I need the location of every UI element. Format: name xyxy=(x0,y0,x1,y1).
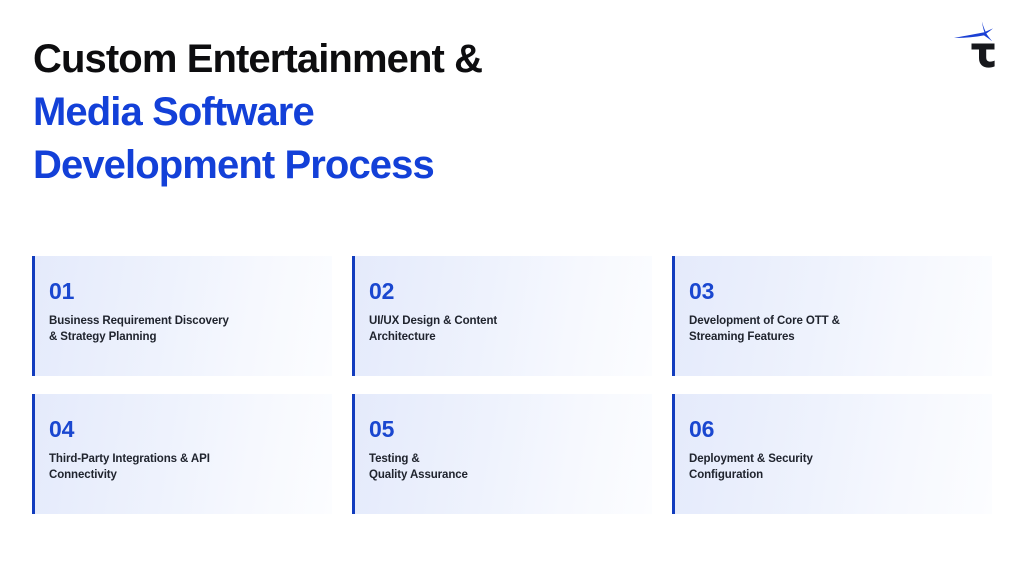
step-description: Testing & Quality Assurance xyxy=(369,452,634,483)
title-line-2: Media Software xyxy=(33,86,753,139)
process-step-grid: 01 Business Requirement Discovery & Stra… xyxy=(32,256,992,514)
page-title: Custom Entertainment & Media Software De… xyxy=(33,33,753,192)
step-description: UI/UX Design & Content Architecture xyxy=(369,314,634,345)
step-number: 03 xyxy=(689,278,974,304)
process-step-card[interactable]: 03 Development of Core OTT & Streaming F… xyxy=(672,256,992,376)
step-description: Third-Party Integrations & API Connectiv… xyxy=(49,452,314,483)
process-step-card[interactable]: 06 Deployment & Security Configuration xyxy=(672,394,992,514)
slide-root: Custom Entertainment & Media Software De… xyxy=(0,0,1024,576)
process-step-card[interactable]: 04 Third-Party Integrations & API Connec… xyxy=(32,394,332,514)
brand-logo xyxy=(948,16,1004,68)
step-accent-bar xyxy=(672,256,675,376)
title-line-3: Development Process xyxy=(33,139,753,192)
process-step-card[interactable]: 01 Business Requirement Discovery & Stra… xyxy=(32,256,332,376)
step-accent-bar xyxy=(352,256,355,376)
step-accent-bar xyxy=(352,394,355,514)
step-accent-bar xyxy=(32,256,35,376)
step-description: Deployment & Security Configuration xyxy=(689,452,974,483)
step-number: 01 xyxy=(49,278,314,304)
step-number: 02 xyxy=(369,278,634,304)
step-accent-bar xyxy=(672,394,675,514)
step-description: Business Requirement Discovery & Strateg… xyxy=(49,314,314,345)
title-line-1: Custom Entertainment & xyxy=(33,33,753,86)
star-swoosh-shape xyxy=(954,22,993,42)
step-number: 05 xyxy=(369,416,634,442)
step-accent-bar xyxy=(32,394,35,514)
step-number: 04 xyxy=(49,416,314,442)
process-step-card[interactable]: 05 Testing & Quality Assurance xyxy=(352,394,652,514)
step-description: Development of Core OTT & Streaming Feat… xyxy=(689,314,974,345)
tau-letter-shape xyxy=(972,44,995,68)
process-step-card[interactable]: 02 UI/UX Design & Content Architecture xyxy=(352,256,652,376)
step-number: 06 xyxy=(689,416,974,442)
tau-star-logo-icon xyxy=(948,16,1004,68)
